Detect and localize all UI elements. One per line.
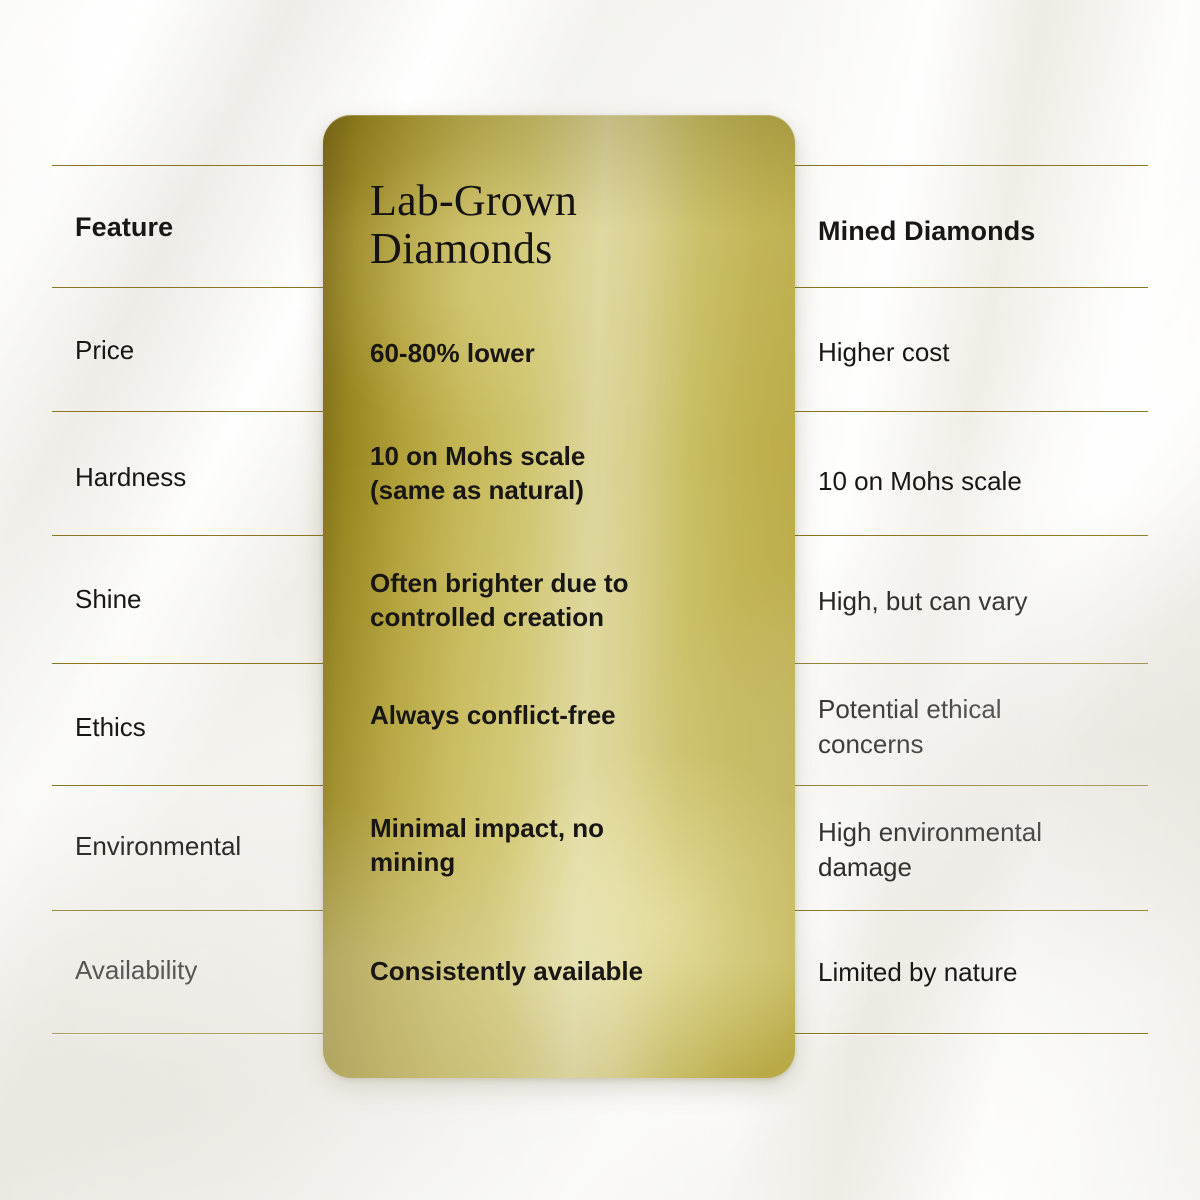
card-value-shine: Often brighter due to controlled creatio… <box>370 567 740 635</box>
card-value-price: 60-80% lower <box>370 337 740 371</box>
row-mined-availability: Limited by nature <box>818 955 1148 990</box>
header-mined-diamonds: Mined Diamonds <box>818 216 1148 247</box>
card-value-ethics: Always conflict-free <box>370 699 740 733</box>
row-mined-shine: High, but can vary <box>818 584 1148 619</box>
row-label-hardness: Hardness <box>75 462 315 493</box>
comparison-infographic: Feature Mined Diamonds Price Higher cost… <box>0 0 1200 1200</box>
row-label-shine: Shine <box>75 584 315 615</box>
row-mined-environmental: High environmental damage <box>818 815 1148 884</box>
row-label-environmental: Environmental <box>75 831 315 862</box>
row-mined-hardness: 10 on Mohs scale <box>818 464 1148 499</box>
row-label-availability: Availability <box>75 955 315 986</box>
row-label-price: Price <box>75 335 315 366</box>
row-mined-price: Higher cost <box>818 335 1148 370</box>
card-value-availability: Consistently available <box>370 955 740 989</box>
row-mined-ethics: Potential ethical concerns <box>818 692 1148 761</box>
card-value-hardness: 10 on Mohs scale (same as natural) <box>370 440 740 508</box>
card-title: Lab-Grown Diamonds <box>370 177 700 274</box>
lab-grown-highlight-card: Lab-Grown Diamonds 60-80% lower 10 on Mo… <box>323 115 795 1078</box>
row-label-ethics: Ethics <box>75 712 315 743</box>
card-value-environmental: Minimal impact, no mining <box>370 812 740 880</box>
header-feature: Feature <box>75 212 315 243</box>
